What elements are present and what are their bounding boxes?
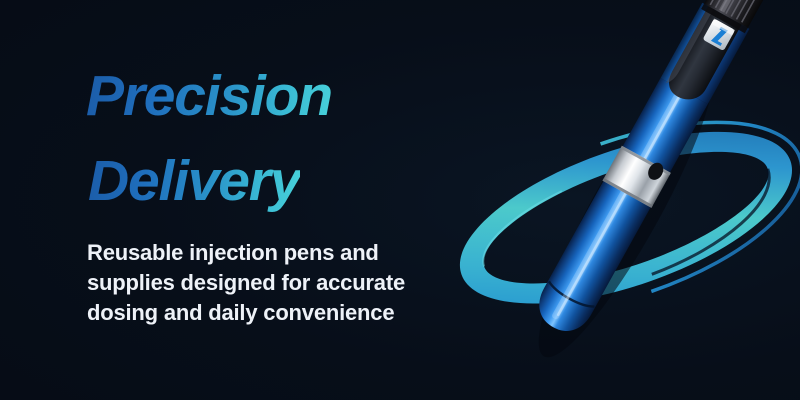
injection-pen-illustration	[440, 0, 800, 400]
subtitle: Reusable injection pens and supplies des…	[87, 238, 447, 328]
headline-line-2-text: Delivery	[88, 139, 300, 224]
copy-block: Precision Delivery Reusable injection pe…	[86, 54, 466, 328]
headline-line-2: Delivery	[88, 139, 466, 224]
pen-barrel	[530, 78, 708, 340]
headline-line-1-text: Precision	[86, 54, 332, 139]
headline-line-1: Precision	[86, 54, 466, 139]
promo-banner: Precision Delivery Reusable injection pe…	[0, 0, 800, 400]
